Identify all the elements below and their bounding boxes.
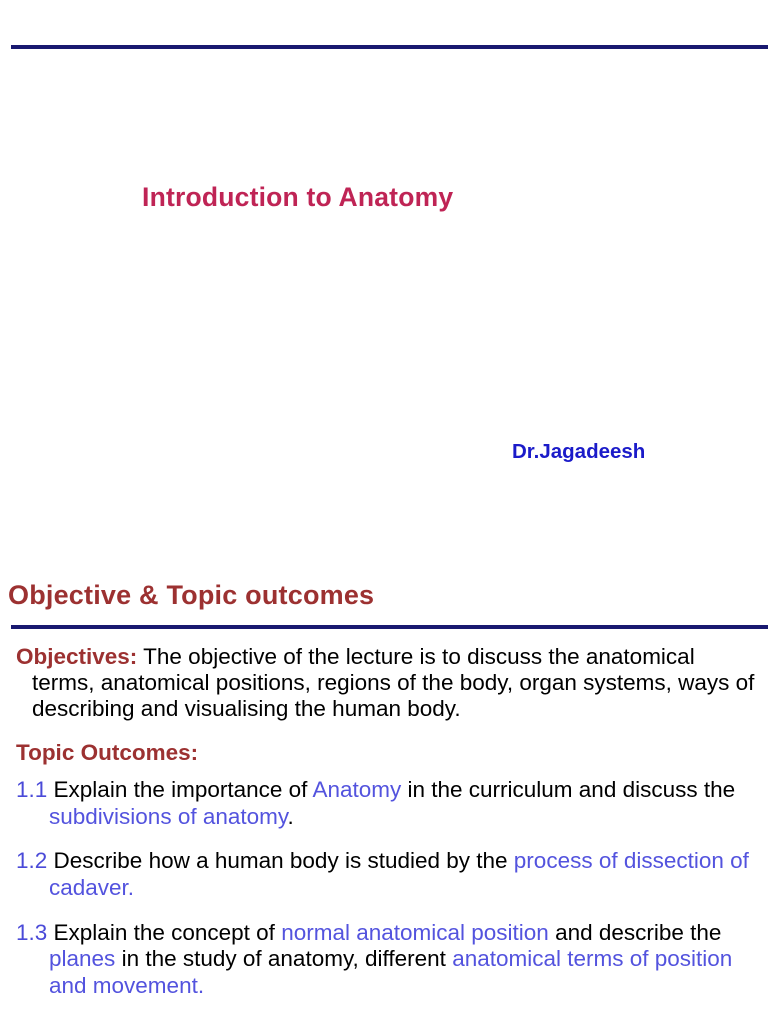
outcome-text-part: in the curriculum and discuss the (401, 777, 735, 802)
outcome-item-1: 1.1 Explain the importance of Anatomy in… (16, 777, 756, 830)
outcome-number: 1.1 (16, 777, 47, 802)
outcome-text-part: in the study of anatomy, different (115, 946, 452, 971)
outcome-text-part: and describe the (549, 920, 722, 945)
outcome-highlight: planes (49, 946, 115, 971)
outcome-highlight: Anatomy (312, 777, 401, 802)
outcome-number: 1.2 (16, 848, 47, 873)
outcome-text-part: Describe how a human body is studied by … (47, 848, 514, 873)
outcome-highlight: normal anatomical position (281, 920, 549, 945)
section-heading: Objective & Topic outcomes (8, 580, 374, 611)
slide-body: Objectives: The objective of the lecture… (16, 644, 756, 999)
outcome-highlight: subdivisions of anatomy (49, 804, 287, 829)
outcome-item-2: 1.2 Describe how a human body is studied… (16, 848, 756, 901)
objectives-text: The objective of the lecture is to discu… (32, 644, 754, 721)
heading-divider-rule (11, 625, 768, 629)
deck-title: Introduction to Anatomy (142, 182, 453, 213)
top-divider-rule (11, 45, 768, 49)
topic-outcomes-title: Topic Outcomes: (16, 741, 756, 766)
outcome-text-part: Explain the concept of (47, 920, 281, 945)
slide-page: Introduction to Anatomy Dr.Jagadeesh Obj… (0, 0, 768, 1024)
outcome-text-part: . (287, 804, 293, 829)
objectives-label: Objectives: (16, 644, 137, 669)
outcome-item-3: 1.3 Explain the concept of normal anatom… (16, 920, 756, 1000)
presenter-name: Dr.Jagadeesh (512, 440, 645, 464)
objectives-slide: Objective & Topic outcomes Objectives: T… (0, 556, 768, 1024)
outcome-text-part: Explain the importance of (47, 777, 312, 802)
title-slide: Introduction to Anatomy Dr.Jagadeesh (0, 0, 768, 556)
objectives-paragraph: Objectives: The objective of the lecture… (16, 644, 756, 723)
outcome-number: 1.3 (16, 920, 47, 945)
